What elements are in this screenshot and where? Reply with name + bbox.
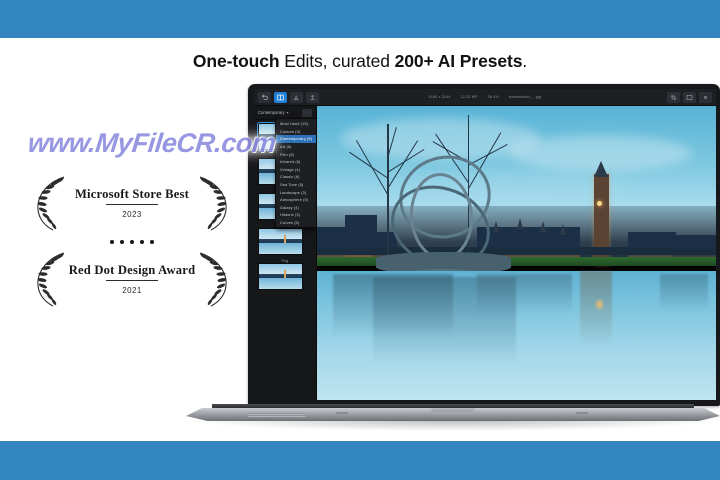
app-window: 4160 x 314412.32 MP38.4%westminster_...j… <box>254 89 716 400</box>
separator-dot <box>140 240 144 244</box>
menu-item[interactable]: Classic (6) <box>276 173 317 181</box>
menu-item[interactable]: Curves (5) <box>276 219 317 227</box>
preset-thumbnail[interactable] <box>258 228 303 255</box>
award-title: Microsoft Store Best <box>75 187 189 202</box>
menu-item[interactable]: Custom (3) <box>276 128 317 136</box>
laptop-shadow <box>192 420 714 431</box>
laptop-base <box>186 404 720 430</box>
chevron-down-icon: ▾ <box>287 110 289 115</box>
presets-options-button[interactable] <box>302 109 312 117</box>
undo-icon[interactable] <box>258 92 271 103</box>
menu-item[interactable]: Film (8) <box>276 150 317 158</box>
award-year: 2023 <box>75 208 189 219</box>
image-metadata-readout: 4160 x 314412.32 MP38.4%westminster_...j… <box>254 95 716 99</box>
award-text-microsoft: Microsoft Store Best 2023 <box>75 187 189 219</box>
menu-item[interactable]: Historic (3) <box>276 211 317 219</box>
edited-photo <box>317 106 716 400</box>
presets-category-dropdown[interactable]: Most Used (19) Custom (3) Contemporary (… <box>275 118 317 228</box>
laurel-wreath-left-icon <box>34 250 68 308</box>
award-divider <box>106 204 158 205</box>
split-view-icon[interactable] <box>274 92 287 103</box>
crop-icon[interactable] <box>667 92 680 103</box>
menu-item[interactable]: Landscape (3) <box>276 188 317 196</box>
award-title: Red Dot Design Award <box>69 263 196 278</box>
separator-dot <box>110 240 114 244</box>
award-divider <box>106 280 158 281</box>
export-icon[interactable] <box>306 92 319 103</box>
menu-item[interactable]: Galaxy (4) <box>276 204 317 212</box>
headline-part-2: Edits, curated <box>279 51 394 71</box>
menu-item[interactable]: Vintage (4) <box>276 166 317 174</box>
menu-item[interactable]: Infrared (6) <box>276 158 317 166</box>
toolbar-right-group <box>667 92 712 103</box>
menu-item[interactable]: Most Used (19) <box>276 120 317 128</box>
bottom-brand-bar <box>0 441 720 480</box>
menu-item-selected[interactable]: Contemporary (9) <box>276 135 317 143</box>
award-text-reddot: Red Dot Design Award 2021 <box>69 263 196 295</box>
preset-thumbnail[interactable] <box>258 263 303 290</box>
settings-icon[interactable] <box>699 92 712 103</box>
meta-filename: westminster_...jpg <box>509 95 542 99</box>
headline-part-4: . <box>522 51 527 71</box>
laurel-wreath-left-icon <box>34 174 68 232</box>
menu-item[interactable]: Art (6) <box>276 143 317 151</box>
headline-part-1: One-touch <box>193 51 280 71</box>
laptop-open-notch <box>431 408 475 412</box>
laptop-foot <box>336 412 348 414</box>
presets-category-label: Contemporary <box>258 110 285 115</box>
site-watermark: www.MyFileCR.com <box>26 128 277 159</box>
separator-dot <box>130 240 134 244</box>
laptop-foot <box>576 412 588 414</box>
page-headline: One-touch Edits, curated 200+ AI Presets… <box>0 51 720 72</box>
app-body: Contemporary ▾ Ice <box>254 106 716 400</box>
top-brand-bar <box>0 0 720 38</box>
headline-part-3: 200+ AI Presets <box>395 51 523 71</box>
menu-item[interactable]: Sea Tone (5) <box>276 181 317 189</box>
laptop-screen-bezel: 4160 x 314412.32 MP38.4%westminster_...j… <box>248 84 720 406</box>
photo-viewer[interactable] <box>317 106 716 400</box>
meta-zoom-level: 38.4% <box>488 95 499 99</box>
fullscreen-icon[interactable] <box>683 92 696 103</box>
menu-item[interactable]: Atmosphere (9) <box>276 196 317 204</box>
compare-icon[interactable] <box>290 92 303 103</box>
meta-megapixels: 12.32 MP <box>461 95 478 99</box>
laptop-vent-grille <box>248 413 306 417</box>
list-item[interactable]: Fog <box>254 257 316 292</box>
meta-dimensions: 4160 x 3144 <box>429 95 451 99</box>
separator-dot <box>150 240 154 244</box>
toolbar-left-group <box>258 92 319 103</box>
separator-dot <box>120 240 124 244</box>
app-toolbar: 4160 x 314412.32 MP38.4%westminster_...j… <box>254 89 716 106</box>
award-year: 2021 <box>69 284 196 295</box>
